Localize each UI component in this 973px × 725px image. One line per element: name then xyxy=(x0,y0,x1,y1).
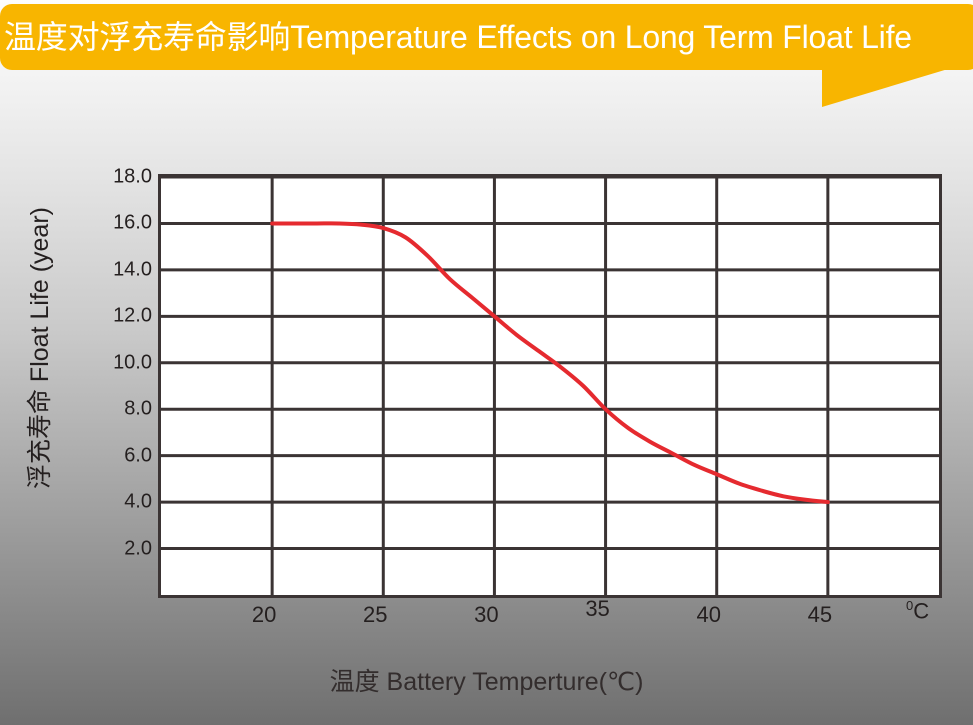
y-axis-tick-label: 2.0 xyxy=(52,537,152,560)
vertical-gridlines xyxy=(272,177,828,595)
y-axis-tick-label: 4.0 xyxy=(52,491,152,514)
y-axis-tick-label: 6.0 xyxy=(52,444,152,467)
y-axis-tick-labels: 2.04.06.08.010.012.014.016.018.0 xyxy=(48,100,152,725)
y-axis-tick-label: 14.0 xyxy=(52,258,152,281)
x-axis-tick-label: 20 xyxy=(234,602,294,628)
horizontal-gridlines xyxy=(161,177,939,549)
y-axis-tick-label: 12.0 xyxy=(52,305,152,328)
plot-svg xyxy=(161,177,939,595)
x-axis-unit: 0C xyxy=(906,598,929,624)
x-axis-title: 温度 Battery Temperture(℃) xyxy=(0,662,973,698)
y-axis-tick-label: 16.0 xyxy=(52,212,152,235)
y-axis-tick-label: 18.0 xyxy=(52,166,152,189)
x-axis-tick-label: 30 xyxy=(456,602,516,628)
title-banner: 温度对浮充寿命影响Temperature Effects on Long Ter… xyxy=(0,4,973,70)
plot-area xyxy=(158,174,942,598)
y-axis-tick-label: 8.0 xyxy=(52,398,152,421)
y-axis-tick-label: 10.0 xyxy=(52,351,152,374)
celsius-letter: C xyxy=(913,598,929,623)
x-axis-tick-label: 40 xyxy=(679,602,739,628)
x-axis-tick-label: 45 xyxy=(790,602,850,628)
x-axis-tick-label: 25 xyxy=(345,602,405,628)
x-axis-tick-label: 35 xyxy=(568,596,628,622)
chart-container: 浮充寿命 Float Life (year) 2.04.06.08.010.01… xyxy=(0,100,973,725)
page-title: 温度对浮充寿命影响Temperature Effects on Long Ter… xyxy=(4,21,912,53)
chart-page: 温度对浮充寿命影响Temperature Effects on Long Ter… xyxy=(0,0,973,725)
